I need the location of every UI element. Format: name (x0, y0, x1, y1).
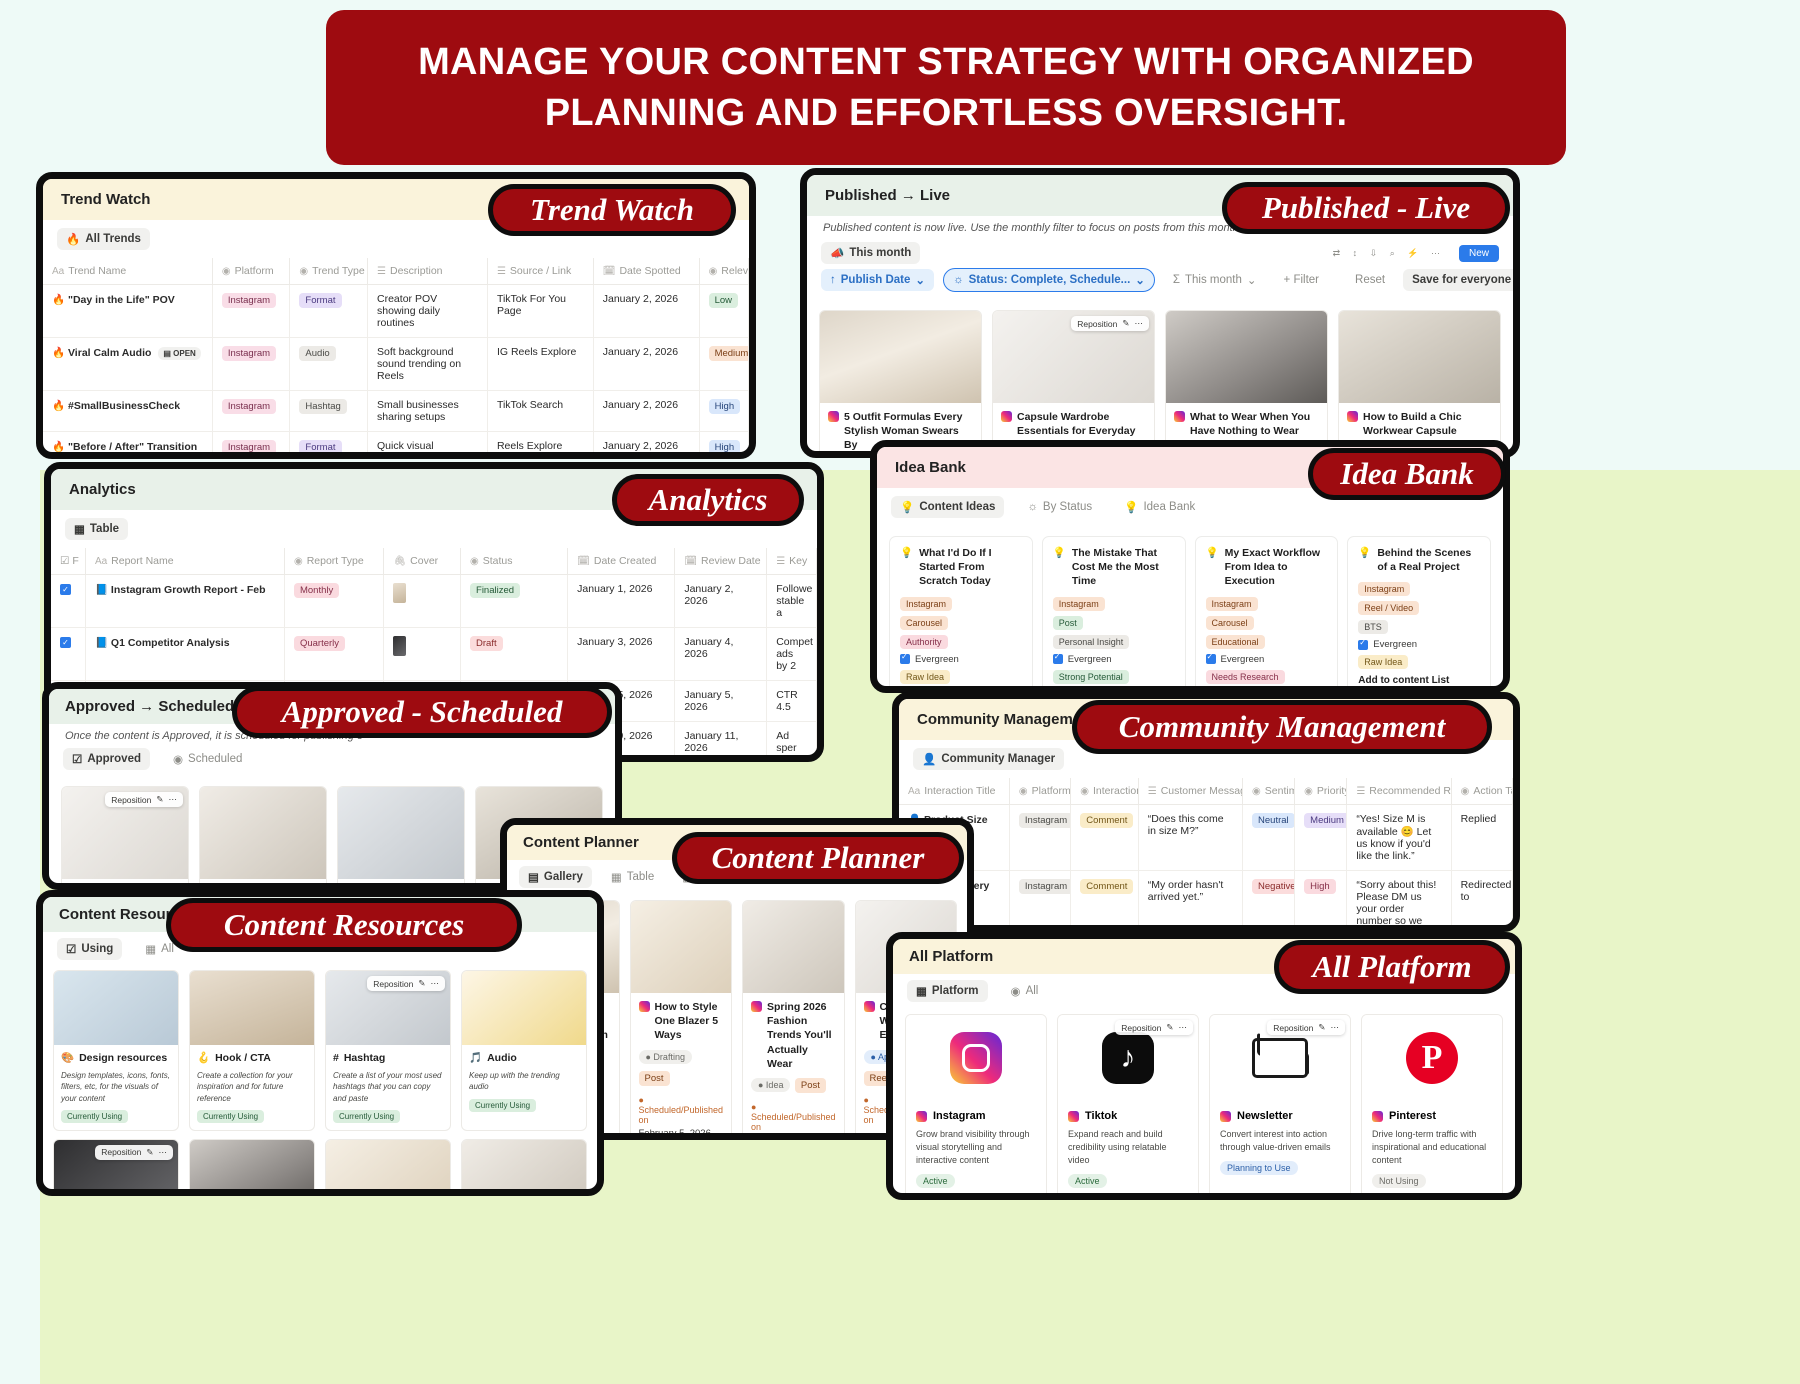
resource-status: Currently Using (333, 1110, 400, 1123)
evergreen-checkbox[interactable]: Evergreen (1358, 639, 1480, 650)
gallery-card[interactable]: Spring 2026 Fashion Trends You'll Actual… (199, 786, 327, 890)
idea-status: Raw Idea (1358, 655, 1408, 669)
cell-trend-type: Format (290, 285, 368, 338)
lightbulb-icon: 💡 (1358, 546, 1371, 574)
gallery-card[interactable]: Spring 2026 Fashion Trends You'll Actual… (742, 900, 845, 1140)
resource-card[interactable]: 📝Notes / ArticlesSave any notes or artic… (461, 1139, 587, 1196)
platform-card[interactable]: Reposition ✎ ⋯NewsletterConvert interest… (1209, 1014, 1351, 1200)
resource-status: Currently Using (469, 1099, 536, 1112)
resource-description: Design templates, icons, fonts, filters,… (61, 1070, 171, 1104)
reposition-control[interactable]: Reposition ✎ ⋯ (105, 792, 183, 807)
col-recommended-response[interactable]: ☰Recommended Response (1347, 778, 1451, 805)
all-platform-gallery: InstagramGrow brand visibility through v… (893, 1008, 1515, 1200)
evergreen-checkbox[interactable]: Evergreen (900, 654, 1022, 665)
col-customer-message[interactable]: ☰Customer Message (1138, 778, 1242, 805)
resource-image (326, 1140, 450, 1196)
resource-image (462, 971, 586, 1045)
cell-customer-message: “My order hasn't arrived yet.” (1138, 871, 1242, 933)
col-description[interactable]: ☰Description (368, 258, 488, 285)
card-image (1339, 311, 1500, 403)
published-live-tabs: 📣 This month ⇄ ↕ ⇩ ⌕ ⚡ ⋯ New (807, 234, 1513, 268)
evergreen-checkbox[interactable]: Evergreen (1206, 654, 1328, 665)
resource-card[interactable]: 🎨Design resourcesDesign templates, icons… (53, 970, 179, 1131)
cell-platform: Instagram (212, 285, 290, 338)
instagram-logo (950, 1032, 1002, 1084)
resource-image (190, 1140, 314, 1196)
card-image (1166, 311, 1327, 403)
cell-platform: Instagram (1009, 871, 1070, 933)
edit-icon: ✎ (1318, 1022, 1325, 1033)
fire-icon: 🔥 (52, 400, 65, 412)
cell-relevance: High (699, 391, 748, 432)
platform-description: Expand reach and build credibility using… (1068, 1128, 1188, 1167)
scheduled-label: ● Scheduled/Published on (751, 1102, 836, 1132)
content-planner-title: Content Planner (523, 834, 639, 851)
cell-review-date: January 2, 2026 (675, 575, 767, 628)
tab-idea-bank[interactable]: 💡 Idea Bank (1115, 496, 1204, 518)
cell-checkbox[interactable]: ✓ (51, 628, 85, 681)
idea-status: Needs Research (1206, 670, 1285, 684)
cell-review-date: January 5, 2026 (675, 681, 767, 722)
cell-date: January 2, 2026 (593, 285, 699, 338)
resource-card[interactable]: 🎵AudioKeep up with the trending audioCur… (461, 970, 587, 1131)
community-management-table: AaInteraction Title ◉Platform ◉Interacti… (899, 778, 1513, 932)
idea-card[interactable]: 💡Behind the Scenes of a Real ProjectInst… (1347, 536, 1491, 693)
idea-card[interactable]: 💡My Exact Workflow From Idea to Executio… (1195, 536, 1339, 693)
card-image (631, 901, 732, 993)
filter-status[interactable]: ☼ Status: Complete, Schedule... ⌄ (943, 268, 1155, 292)
card-image (338, 787, 464, 879)
platform-description: Drive long-term traffic with inspiration… (1372, 1128, 1492, 1167)
col-priority[interactable]: ◉Priority (1295, 778, 1347, 805)
platform-status: Active (1068, 1174, 1107, 1188)
status-badge: ● Idea (751, 1078, 790, 1092)
reset-button[interactable]: Reset (1346, 270, 1394, 290)
col-source-link[interactable]: ☰Source / Link (487, 258, 593, 285)
resource-card[interactable]: 🎥Video footagePrepare the video footage … (189, 1139, 315, 1196)
resource-image (462, 1140, 586, 1196)
reposition-control[interactable]: Reposition ✎ ⋯ (1071, 316, 1149, 331)
cell-recommended-response: “Yes! Size M is available 😊 Let us know … (1347, 805, 1451, 871)
platform-status: Active (916, 1174, 955, 1188)
resource-icon: 🎵 (469, 1051, 482, 1065)
cell-platform: Instagram (212, 432, 290, 460)
platform-card[interactable]: InstagramGrow brand visibility through v… (905, 1014, 1047, 1200)
col-action-taken[interactable]: ◉Action Taken (1451, 778, 1512, 805)
analytics-title: Analytics (69, 481, 136, 498)
resource-icon: # (333, 1051, 339, 1065)
person-icon: 👤 (922, 752, 936, 766)
tab-content-ideas[interactable]: 💡 Content Ideas (891, 496, 1004, 518)
more-icon: ⋯ (169, 794, 178, 805)
edit-icon: ✎ (1122, 318, 1129, 329)
fire-icon: 🔥 (52, 347, 65, 359)
table-row[interactable]: 🔥 #SmallBusinessCheckInstagramHashtagSma… (43, 391, 749, 432)
label-content-planner: Content Planner (672, 832, 964, 884)
table-header-row: AaInteraction Title ◉Platform ◉Interacti… (899, 778, 1513, 805)
tab-all-trends[interactable]: 🔥 All Trends (57, 228, 150, 250)
cell-cover (384, 575, 461, 628)
cell-description: Quick visual transformation (368, 432, 488, 460)
reposition-control[interactable]: Reposition ✎ ⋯ (1267, 1020, 1345, 1035)
platform-description: Grow brand visibility through visual sto… (916, 1128, 1036, 1167)
resource-image: Reposition ✎ ⋯ (326, 971, 450, 1045)
idea-tag: Personal Insight (1053, 635, 1130, 649)
published-live-gallery: 5 Outfit Formulas Every Stylish Woman Sw… (807, 300, 1513, 458)
reposition-control[interactable]: Reposition ✎ ⋯ (367, 976, 445, 991)
cell-date-created: January 3, 2026 (568, 628, 675, 681)
background-left-strip (0, 470, 40, 1384)
idea-bank-title: Idea Bank (895, 459, 966, 476)
resource-icon: 🎨 (61, 1051, 74, 1065)
view-toolbar-icons[interactable]: ⇄ ↕ ⇩ ⌕ ⚡ ⋯ (1333, 248, 1445, 259)
resource-description: Create a list of your most used hashtags… (333, 1070, 443, 1104)
platform-logo-area: P (1362, 1015, 1502, 1101)
label-analytics: Analytics (612, 474, 804, 526)
lightbulb-icon: 💡 (1053, 546, 1066, 589)
idea-tag: Carousel (1206, 616, 1254, 630)
idea-tag: Instagram (900, 597, 952, 611)
idea-bank-grid-row1: 💡What I'd Do If I Started From Scratch T… (877, 526, 1503, 693)
label-all-platform: All Platform (1274, 940, 1510, 994)
cell-cover (384, 628, 461, 681)
cell-trend-name: 🔥 "Before / After" Transition (43, 432, 212, 460)
cell-date: January 2, 2026 (593, 338, 699, 391)
card-tag: Post (795, 1078, 826, 1093)
col-sentiment[interactable]: ◉Sentiment (1243, 778, 1295, 805)
idea-tag: Post (1053, 616, 1083, 630)
cell-recommended-response: “Sorry about this! Please DM us your ord… (1347, 871, 1451, 933)
cell-review-date: January 11, 2026 (675, 722, 767, 763)
cell-report-name: 📘 Instagram Growth Report - Feb (85, 575, 284, 628)
resource-image: Reposition ✎ ⋯ (54, 1140, 178, 1196)
gallery-card[interactable]: Reposition ✎ ⋯Capsule Wardrobe Essential… (992, 310, 1155, 458)
card-image: Reposition ✎ ⋯ (62, 787, 188, 879)
resource-card[interactable]: 🪝Hook / CTACreate a collection for your … (189, 970, 315, 1131)
tab-platform[interactable]: ▦ Platform (907, 980, 988, 1002)
tab-this-month[interactable]: 📣 This month (821, 242, 920, 264)
cell-platform: Instagram (212, 338, 290, 391)
more-icon: ⋯ (431, 978, 440, 989)
col-key[interactable]: ☰Key (767, 548, 817, 575)
idea-title: 💡The Mistake That Cost Me the Most Time (1053, 546, 1175, 589)
cell-key: Followe stable a (767, 575, 817, 628)
col-report-type[interactable]: ◉Report Type (284, 548, 384, 575)
headline-text: MANAGE YOUR CONTENT STRATEGY WITH ORGANI… (366, 37, 1526, 137)
content-resources-row2: Reposition ✎ ⋯🔗LinksSave bookmarks that … (43, 1135, 597, 1196)
platform-name: Newsletter (1220, 1110, 1340, 1122)
platform-icon (1220, 1111, 1231, 1122)
idea-tag: Educational (1206, 635, 1265, 649)
resource-image (54, 971, 178, 1045)
label-published-live: Published - Live (1222, 182, 1510, 234)
edit-icon: ✎ (418, 978, 425, 989)
resource-status: Currently Using (61, 1110, 128, 1123)
col-date-created[interactable]: 🗓Date Created (568, 548, 675, 575)
resource-status: Currently Using (197, 1110, 264, 1123)
cell-priority: High (1295, 871, 1347, 933)
fire-icon: 🔥 (66, 232, 80, 246)
idea-tag: Instagram (1053, 597, 1105, 611)
more-icon: ⋯ (1135, 318, 1144, 329)
platform-handle: creator.org (916, 1195, 1036, 1200)
more-icon: ⋯ (1331, 1022, 1340, 1033)
idea-tag: Instagram (1358, 582, 1410, 596)
idea-tag: Reel / Video (1358, 601, 1419, 615)
col-cover[interactable]: 🖇Cover (384, 548, 461, 575)
idea-title: 💡What I'd Do If I Started From Scratch T… (900, 546, 1022, 589)
newsletter-logo (1252, 1038, 1308, 1078)
card-title: What to Wear When You Have Nothing to We… (1174, 410, 1319, 438)
platform-icon (1372, 1111, 1383, 1122)
card-date: February 7, 2026 (751, 1135, 836, 1140)
content-resources-row1: 🎨Design resourcesDesign templates, icons… (43, 966, 597, 1135)
card-title: Spring 2026 Fashion Trends You'll Actual… (751, 1000, 836, 1071)
label-idea-bank: Idea Bank (1308, 448, 1506, 500)
tab-approved[interactable]: ☑ Approved (63, 748, 150, 770)
cell-date-created: January 1, 2026 (568, 575, 675, 628)
tab-community-manager[interactable]: 👤 Community Manager (913, 748, 1064, 770)
table-icon: ▦ (74, 522, 85, 536)
resource-title: #Hashtag (333, 1051, 443, 1065)
col-report-name[interactable]: AaReport Name (85, 548, 284, 575)
lightbulb-icon: 💡 (1206, 546, 1219, 589)
card-title: How to Build a Chic Workwear Capsule (1347, 410, 1492, 438)
resource-description: Keep up with the trending audio (469, 1070, 579, 1092)
instagram-icon (864, 1001, 875, 1012)
idea-title: 💡Behind the Scenes of a Real Project (1358, 546, 1480, 574)
cell-action-taken: Replied (1451, 805, 1512, 871)
gallery-card[interactable]: What to Wear When You Have Nothing to We… (1165, 310, 1328, 458)
fire-icon: 🔥 (52, 441, 65, 453)
table-header-row: AaTrend Name ◉Platform ◉Trend Type ☰Desc… (43, 258, 749, 285)
reposition-control[interactable]: Reposition ✎ ⋯ (95, 1145, 173, 1160)
cell-trend-type: Hashtag (290, 391, 368, 432)
edit-icon: ✎ (146, 1147, 153, 1158)
cell-description: Soft background sound trending on Reels (368, 338, 488, 391)
cell-priority: Medium (1295, 805, 1347, 871)
idea-tag: Carousel (900, 616, 948, 630)
table-row[interactable]: ✓📘 Q1 Competitor AnalysisQuarterlyDraftJ… (51, 628, 817, 681)
label-approved-scheduled: Approved - Scheduled (232, 686, 612, 738)
cell-report-type: Monthly (284, 575, 384, 628)
cell-customer-message: “Does this come in size M?” (1138, 805, 1242, 871)
table-row[interactable]: 👤 Late Delivery ComplaintInstagramCommen… (899, 871, 1513, 933)
cell-description: Small businesses sharing setups (368, 391, 488, 432)
tab-by-status[interactable]: ☼ By Status (1018, 497, 1101, 517)
platform-logo-area: Reposition ✎ ⋯ (1210, 1015, 1350, 1101)
tab-gallery[interactable]: ▤ Gallery (519, 866, 592, 888)
idea-status: Raw Idea (900, 670, 950, 684)
scheduled-label: ● Scheduled/Published on (639, 1095, 724, 1125)
col-relevance[interactable]: ◉Releva (699, 258, 748, 285)
resource-card[interactable]: Reposition ✎ ⋯🔗LinksSave bookmarks that … (53, 1139, 179, 1196)
card-image: Reposition ✎ ⋯ (993, 311, 1154, 403)
gallery-card[interactable]: How to Build a Chic Workwear Capsule● Ap… (1338, 310, 1501, 458)
idea-title: 💡My Exact Workflow From Idea to Executio… (1206, 546, 1328, 589)
lightbulb-icon: 💡 (900, 546, 913, 589)
col-interaction-title[interactable]: AaInteraction Title (899, 778, 1009, 805)
table-row[interactable]: 🔥 "Day in the Life" POVInstagramFormatCr… (43, 285, 749, 338)
add-to-content-list-button[interactable]: Add to content List (1358, 675, 1480, 686)
new-button[interactable]: New (1459, 245, 1499, 262)
cell-date: January 2, 2026 (593, 432, 699, 460)
resource-icon: 🪝 (197, 1051, 210, 1065)
trend-watch-title: Trend Watch (61, 191, 150, 208)
resource-image (190, 971, 314, 1045)
instagram-icon (1347, 411, 1358, 422)
table-row[interactable]: 🔥 Viral Calm Audio ▤ OPENInstagramAudioS… (43, 338, 749, 391)
fire-icon: 🔥 (52, 294, 65, 306)
col-trend-name[interactable]: AaTrend Name (43, 258, 212, 285)
filter-month[interactable]: Σ This month ⌄ (1164, 269, 1266, 291)
card-image (200, 787, 326, 879)
tab-using[interactable]: ☑ Using (57, 938, 122, 960)
cell-key: Ad sper rate 2.5 (767, 722, 817, 763)
card-image (743, 901, 844, 993)
resource-card[interactable]: ✨InspirationCreate a collection for your… (325, 1139, 451, 1196)
approved-scheduled-tabs: ☑ Approved ◉ Scheduled (49, 742, 615, 776)
cell-review-date: January 4, 2026 (675, 628, 767, 681)
table-row[interactable]: 🔥 "Before / After" TransitionInstagramFo… (43, 432, 749, 460)
cell-trend-type: Format (290, 432, 368, 460)
instagram-icon (1174, 411, 1185, 422)
platform-status: Planning to Use (1220, 1161, 1298, 1175)
instagram-icon (639, 1001, 650, 1012)
resource-card[interactable]: Reposition ✎ ⋯#HashtagCreate a list of y… (325, 970, 451, 1131)
cell-trend-name: 🔥 #SmallBusinessCheck (43, 391, 212, 432)
platform-name: Tiktok (1068, 1110, 1188, 1122)
platform-card[interactable]: PPinterestDrive long-term traffic with i… (1361, 1014, 1503, 1200)
published-live-filters: ↑ Publish Date ⌄ ☼ Status: Complete, Sch… (807, 268, 1513, 300)
col-checkbox[interactable]: ☑ F (51, 548, 85, 575)
cell-source: Reels Explore (487, 432, 593, 460)
filter-add[interactable]: + Filter (1275, 270, 1328, 290)
resource-description: Create a collection for your inspiration… (197, 1070, 307, 1104)
platform-handle: creator.org (1068, 1195, 1188, 1200)
cell-report-type: Quarterly (284, 628, 384, 681)
cell-platform: Instagram (212, 391, 290, 432)
cell-status: Draft (461, 628, 568, 681)
cell-key: Compet ads by 2 (767, 628, 817, 681)
more-icon: ⋯ (159, 1147, 168, 1158)
idea-tag: Authority (900, 635, 948, 649)
resource-title: 🎵Audio (469, 1051, 579, 1065)
save-for-everyone-button[interactable]: Save for everyone ⌄ (1403, 269, 1520, 291)
idea-card[interactable]: 💡What I'd Do If I Started From Scratch T… (889, 536, 1033, 693)
col-trend-type[interactable]: ◉Trend Type (290, 258, 368, 285)
label-community-management: Community Management (1072, 700, 1492, 754)
published-live-title: Published → Live (825, 187, 950, 204)
pinterest-logo: P (1406, 1032, 1458, 1084)
platform-description: Convert interest into action through val… (1220, 1128, 1340, 1154)
platform-status: Not Using (1372, 1174, 1426, 1188)
reposition-control[interactable]: Reposition ✎ ⋯ (1115, 1020, 1193, 1035)
cell-status: Finalized (461, 575, 568, 628)
gallery-card[interactable]: 3 Shoes That Go With Everything● Idea● F… (337, 786, 465, 890)
edit-icon: ✎ (1166, 1022, 1173, 1033)
gallery-card[interactable]: 5 Outfit Formulas Every Stylish Woman Sw… (819, 310, 982, 458)
filter-publish-date[interactable]: ↑ Publish Date ⌄ (821, 269, 934, 291)
cell-date: January 2, 2026 (593, 391, 699, 432)
tab-table[interactable]: ▦ Table (602, 866, 663, 888)
more-icon: ⋯ (1179, 1022, 1188, 1033)
cell-trend-type: Audio (290, 338, 368, 391)
cell-platform: Instagram (1009, 805, 1070, 871)
platform-icon (916, 1111, 927, 1122)
platform-card[interactable]: ♪Reposition ✎ ⋯TiktokExpand reach and bu… (1057, 1014, 1199, 1200)
cell-action-taken: Redirected to (1451, 871, 1512, 933)
cell-report-name: 📘 Q1 Competitor Analysis (85, 628, 284, 681)
open-badge[interactable]: ▤ OPEN (158, 347, 200, 360)
idea-status: Strong Potential (1053, 670, 1129, 684)
headline-banner: MANAGE YOUR CONTENT STRATEGY WITH ORGANI… (326, 10, 1566, 165)
platform-logo-area: ♪Reposition ✎ ⋯ (1058, 1015, 1198, 1101)
gallery-card[interactable]: Reposition ✎ ⋯Capsule Wardrobe Essential… (61, 786, 189, 890)
cell-interaction-type: Comment (1071, 805, 1138, 871)
label-content-resources: Content Resources (166, 898, 522, 952)
community-management-title: Community Management (917, 711, 1095, 728)
instagram-icon (1001, 411, 1012, 422)
cell-source: TikTok For You Page (487, 285, 593, 338)
cell-interaction-type: Comment (1071, 871, 1138, 933)
platform-icon (1068, 1111, 1079, 1122)
platform-name: Instagram (916, 1110, 1036, 1122)
col-platform[interactable]: ◉Platform (1009, 778, 1070, 805)
cell-relevance: High (699, 432, 748, 460)
table-header-row: ☑ F AaReport Name ◉Report Type 🖇Cover ◉S… (51, 548, 817, 575)
platform-name: Pinterest (1372, 1110, 1492, 1122)
card-image (820, 311, 981, 403)
cell-source: IG Reels Explore (487, 338, 593, 391)
card-title: How to Style One Blazer 5 Ways (639, 1000, 724, 1043)
col-date-spotted[interactable]: 🗓Date Spotted (593, 258, 699, 285)
instagram-icon (828, 411, 839, 422)
tab-all[interactable]: ◉ All (1002, 980, 1048, 1002)
instagram-icon (751, 1001, 762, 1012)
table-row[interactable]: ✓📘 Instagram Growth Report - FebMonthlyF… (51, 575, 817, 628)
tiktok-logo: ♪ (1102, 1032, 1154, 1084)
tab-scheduled[interactable]: ◉ Scheduled (164, 748, 251, 770)
col-status[interactable]: ◉Status (461, 548, 568, 575)
edit-icon: ✎ (156, 794, 163, 805)
label-trend-watch: Trend Watch (488, 184, 736, 236)
cell-trend-name: 🔥 "Day in the Life" POV (43, 285, 212, 338)
cell-relevance: Medium (699, 338, 748, 391)
card-tag: Post (639, 1071, 670, 1086)
evergreen-checkbox[interactable]: Evergreen (1053, 654, 1175, 665)
idea-card[interactable]: 💡The Mistake That Cost Me the Most TimeI… (1042, 536, 1186, 693)
approved-scheduled-title: Approved → Scheduled (65, 698, 234, 715)
cell-checkbox[interactable]: ✓ (51, 575, 85, 628)
idea-tag: BTS (1358, 620, 1388, 634)
cell-description: Creator POV showing daily routines (368, 285, 488, 338)
idea-tag: Instagram (1206, 597, 1258, 611)
col-interaction-type[interactable]: ◉Interaction Type (1071, 778, 1138, 805)
trend-watch-table: AaTrend Name ◉Platform ◉Trend Type ☰Desc… (43, 258, 749, 459)
platform-logo-area (906, 1015, 1046, 1101)
card-date: February 5, 2026 (639, 1128, 724, 1139)
resource-title: 🪝Hook / CTA (197, 1051, 307, 1065)
resource-title: 🎨Design resources (61, 1051, 171, 1065)
tab-table[interactable]: ▦ Table (65, 518, 128, 540)
gallery-card[interactable]: How to Style One Blazer 5 Ways● Drafting… (630, 900, 733, 1140)
cell-source: TikTok Search (487, 391, 593, 432)
table-row[interactable]: 👤 Product Size QuestionInstagramComment“… (899, 805, 1513, 871)
col-review-date[interactable]: 🗓Review Date (675, 548, 767, 575)
cell-sentiment: Neutral (1243, 805, 1295, 871)
col-platform[interactable]: ◉Platform (212, 258, 290, 285)
